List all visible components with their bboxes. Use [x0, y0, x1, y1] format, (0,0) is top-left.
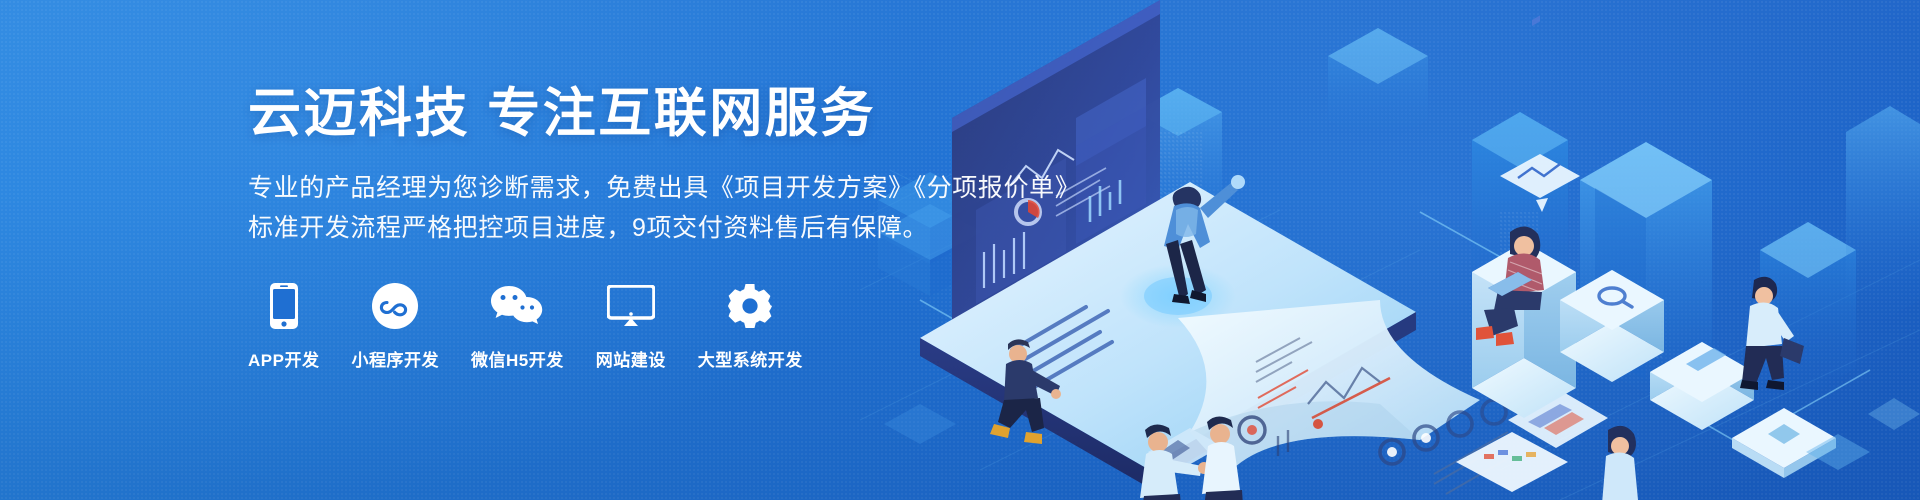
promo-banner: 云迈科技 专注互联网服务 专业的产品经理为您诊断需求，免费出具《项目开发方案》《… [0, 0, 1920, 500]
service-label: APP开发 [248, 346, 319, 371]
service-item-app[interactable]: APP开发 [248, 282, 319, 371]
service-label: 大型系统开发 [698, 346, 803, 371]
service-list: APP开发 小程序开发 微信 [248, 282, 803, 371]
service-label: 网站建设 [596, 346, 666, 371]
service-item-large-system[interactable]: 大型系统开发 [698, 282, 803, 371]
service-item-wechat-h5[interactable]: 微信H5开发 [471, 282, 564, 371]
isometric-tech-team-scene [860, 0, 1920, 500]
hero-copy: 云迈科技 专注互联网服务 专业的产品经理为您诊断需求，免费出具《项目开发方案》《… [248, 84, 1128, 248]
service-label: 小程序开发 [351, 346, 439, 371]
hero-subtitle-line-2: 标准开发流程严格把控项目进度，9项交付资料售后有保障。 [248, 209, 1128, 249]
hero-subtitle-block: 专业的产品经理为您诊断需求，免费出具《项目开发方案》《分项报价单》 标准开发流程… [248, 169, 1128, 248]
service-item-mini-program[interactable]: 小程序开发 [351, 282, 439, 371]
mini-program-icon [372, 282, 418, 330]
gear-icon [727, 282, 773, 330]
service-item-website[interactable]: 网站建设 [596, 282, 666, 371]
page-title: 云迈科技 专注互联网服务 [248, 84, 1128, 143]
service-label: 微信H5开发 [471, 346, 564, 371]
hero-subtitle-line-1: 专业的产品经理为您诊断需求，免费出具《项目开发方案》《分项报价单》 [248, 169, 1128, 209]
wechat-icon [490, 282, 544, 330]
mobile-phone-icon [270, 282, 298, 330]
monitor-icon [607, 282, 655, 330]
